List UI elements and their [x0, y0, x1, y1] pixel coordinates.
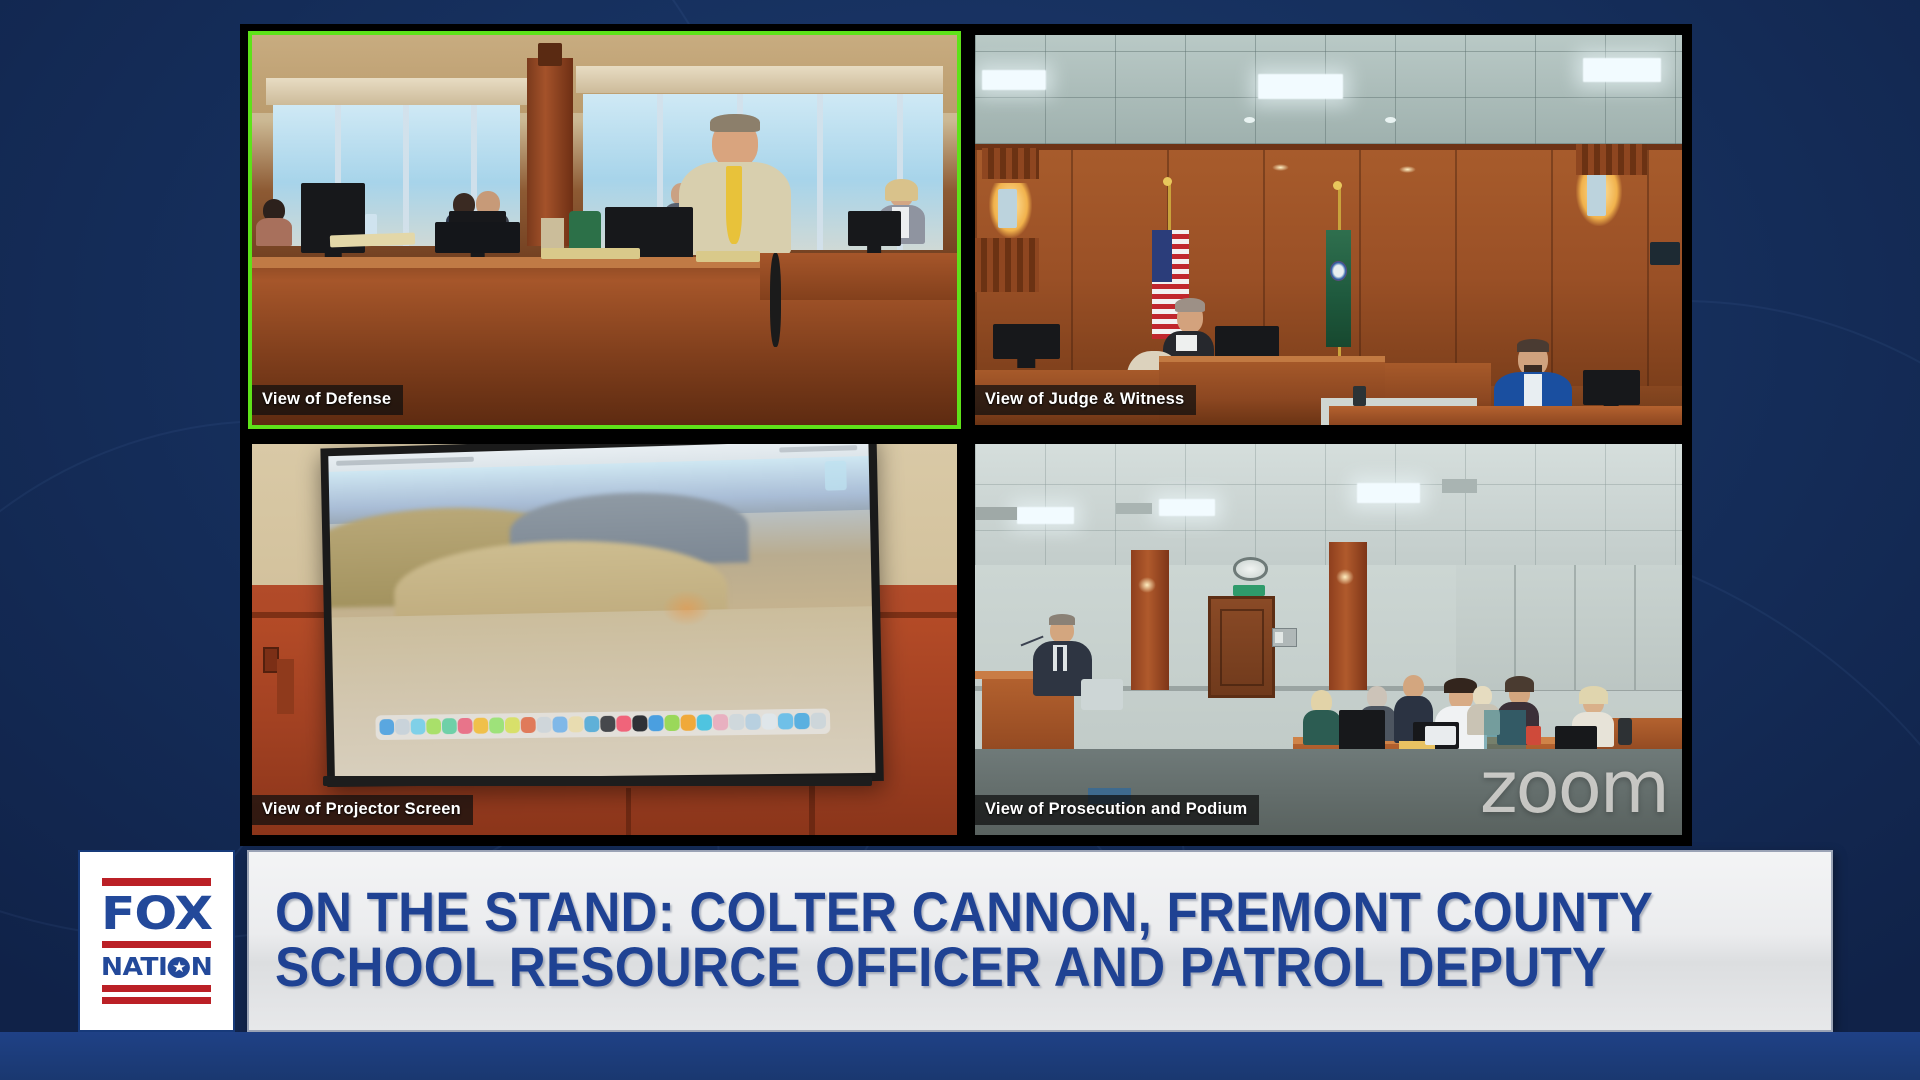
- fox-nation-logo: FOX NATI ★ N: [78, 850, 235, 1032]
- headline-line-2: SCHOOL RESOURCE OFFICER AND PATROL DEPUT…: [275, 939, 1675, 994]
- video-panel-prosecution[interactable]: zoom View of Prosecution and Podium: [966, 435, 1692, 846]
- logo-stripe-top: [102, 878, 211, 886]
- courtroom-judge-scene: [975, 35, 1682, 425]
- panel-label-projector: View of Projector Screen: [252, 795, 473, 825]
- video-panel-defense[interactable]: View of Defense: [240, 24, 966, 435]
- headline-banner: ON THE STAND: COLTER CANNON, FREMONT COU…: [247, 850, 1833, 1032]
- logo-nation-right: N: [191, 954, 213, 979]
- video-panel-judge-witness[interactable]: View of Judge & Witness: [966, 24, 1692, 435]
- logo-nation-left: NATI: [101, 954, 167, 979]
- lower-third: FOX NATI ★ N ON THE STAND: COLTER CANNON…: [78, 850, 1833, 1032]
- video-panel-projector[interactable]: View of Projector Screen: [240, 435, 966, 846]
- headline-line-1: ON THE STAND: COLTER CANNON, FREMONT COU…: [275, 884, 1675, 939]
- panel-label-prosecution: View of Prosecution and Podium: [975, 795, 1259, 825]
- logo-fox-text: FOX: [101, 893, 212, 934]
- bottom-blue-band: [0, 1032, 1920, 1080]
- star-icon: ★: [168, 957, 190, 978]
- panel-label-defense: View of Defense: [252, 385, 403, 415]
- logo-nation-text: NATI ★ N: [101, 954, 212, 979]
- zoom-watermark: zoom: [1480, 751, 1668, 823]
- logo-stripe-lower: [102, 985, 211, 992]
- video-grid: View of Defense: [240, 24, 1692, 846]
- courtroom-defense-scene: [252, 35, 957, 425]
- courtroom-prosecution-scene: zoom: [975, 444, 1682, 835]
- logo-stripe-bottom: [102, 997, 211, 1004]
- logo-stripe-middle: [102, 941, 211, 948]
- courtroom-projector-scene: [252, 444, 957, 835]
- panel-label-judge-witness: View of Judge & Witness: [975, 385, 1196, 415]
